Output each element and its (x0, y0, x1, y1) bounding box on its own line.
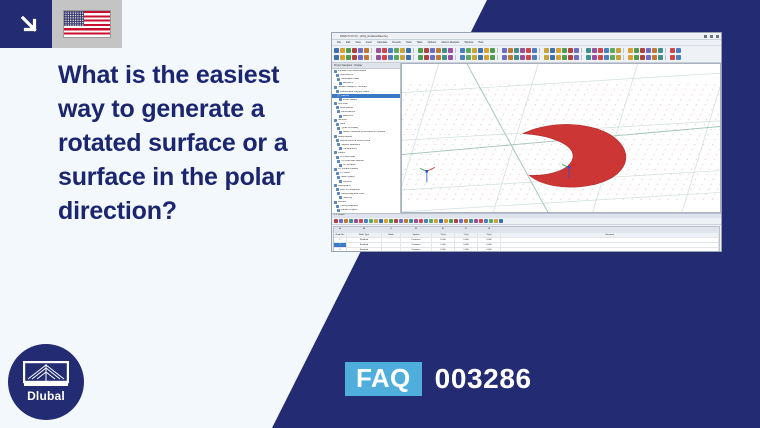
toolbar-row-1[interactable] (334, 47, 719, 54)
tree-node-icon (336, 188, 339, 191)
maximize-icon[interactable] (710, 35, 713, 38)
tree-node-icon (334, 102, 337, 105)
table-column-letter[interactable]: C (382, 227, 401, 232)
tree-node-label: Geometry (343, 82, 353, 84)
arrow-down-right-icon (18, 12, 42, 36)
toolbar-separator (371, 55, 374, 60)
toolbar-button-icon-45[interactable] (604, 55, 609, 60)
toolbar-separator (413, 48, 416, 53)
table-toolbar-icon-31[interactable] (489, 219, 493, 223)
flag-badge (52, 0, 122, 48)
tree-node-label: Values (338, 152, 345, 154)
table-toolbar-icon-24[interactable] (454, 219, 458, 223)
table-cell[interactable]: Standard (347, 248, 382, 251)
toolbar-button-icon-1[interactable] (340, 48, 345, 53)
toolbar-button-icon-16[interactable] (430, 55, 435, 60)
menu-item-calculate[interactable]: Calculate (377, 41, 387, 44)
table-cell[interactable]: 1 (334, 238, 347, 242)
table-cell[interactable]: Cartesian (401, 243, 432, 247)
tree-node-icon (337, 160, 340, 163)
toolbar-button-icon-25[interactable] (484, 48, 489, 53)
table-cell[interactable]: 0.000 (478, 248, 501, 251)
toolbar-button-icon-3[interactable] (352, 48, 357, 53)
toolbar-button-icon-51[interactable] (640, 48, 645, 53)
tree-node-label: Sections (343, 181, 352, 183)
tree-node-label: On Filled Areas (340, 156, 356, 158)
table-toolbar-icon-19[interactable] (429, 219, 433, 223)
table-cell[interactable] (382, 238, 401, 242)
toolbar-button-icon-28[interactable] (502, 55, 507, 60)
toolbar-separator (581, 55, 584, 60)
toolbar-button-icon-29[interactable] (508, 48, 513, 53)
navigator-tree-item[interactable]: Dimensions (332, 212, 400, 213)
table-toolbar-icon-28[interactable] (474, 219, 478, 223)
toolbar-button-icon-36[interactable] (550, 48, 555, 53)
table-toolbar-icon-9[interactable] (379, 219, 383, 223)
arrow-badge (7, 0, 52, 48)
tree-node-icon (339, 115, 342, 118)
logo-text: Dlubal (27, 389, 65, 403)
toolbar-button-icon-46[interactable] (610, 55, 615, 60)
table-toolbar-icon-10[interactable] (384, 219, 388, 223)
table-toolbar-icon-0[interactable] (334, 219, 338, 223)
tree-node-icon (337, 78, 340, 81)
table-cell[interactable] (382, 248, 401, 251)
table-toolbar-icon-15[interactable] (409, 219, 413, 223)
toolbar-button-icon-52[interactable] (646, 48, 651, 53)
table-cell[interactable]: Standard (347, 243, 382, 247)
toolbar-button-icon-0[interactable] (334, 48, 339, 53)
tree-node-icon (336, 123, 339, 126)
table-toolbar-icon-30[interactable] (484, 219, 488, 223)
toolbar-button-icon-1[interactable] (340, 55, 345, 60)
toolbar-separator (497, 55, 500, 60)
toolbar-separator (665, 48, 668, 53)
toolbar-button-icon-39[interactable] (568, 55, 573, 60)
toolbar-button-icon-18[interactable] (442, 55, 447, 60)
table-cell[interactable] (382, 243, 401, 247)
table-column-letter[interactable]: F (455, 227, 478, 232)
tree-node-label: Surface Category / Numbers (338, 86, 367, 88)
canvas-graphics (402, 64, 720, 213)
tree-node-icon (339, 98, 342, 101)
tree-node-icon (339, 147, 342, 150)
toolbar-button-icon-4[interactable] (358, 48, 363, 53)
table-cell[interactable] (501, 248, 719, 251)
left-accent-strip (0, 0, 7, 48)
toolbar-button-icon-12[interactable] (406, 48, 411, 53)
tree-node-label: Grid Lines (338, 103, 348, 105)
toolbar-button-icon-57[interactable] (676, 55, 681, 60)
toolbar-button-icon-17[interactable] (436, 55, 441, 60)
toolbar-button-icon-39[interactable] (568, 48, 573, 53)
toolbar-button-icon-36[interactable] (550, 55, 555, 60)
tree-node-icon (334, 135, 337, 138)
tree-node-icon (336, 156, 339, 159)
table-column-header[interactable]: Node Type (347, 233, 382, 238)
table-cell[interactable]: 0.000 (478, 243, 501, 247)
menu-item-tools[interactable]: Tools (406, 41, 412, 44)
tree-node-label: On Solids (340, 172, 350, 174)
toolbar-button-icon-4[interactable] (358, 55, 363, 60)
toolbar-button-icon-11[interactable] (400, 55, 405, 60)
toolbar-button-icon-49[interactable] (628, 55, 633, 60)
table-toolbar-icon-4[interactable] (354, 219, 358, 223)
dlubal-bridge-icon (23, 361, 69, 387)
toolbar-button-icon-16[interactable] (430, 48, 435, 53)
tree-node-icon (334, 184, 337, 187)
toolbar-button-icon-51[interactable] (640, 55, 645, 60)
toolbar-button-icon-43[interactable] (592, 48, 597, 53)
menu-item-add-on-modules[interactable]: Add-on Modules (441, 41, 459, 44)
table-toolbar-icon-3[interactable] (349, 219, 353, 223)
table-toolbar-icon-17[interactable] (419, 219, 423, 223)
toolbar-button-icon-5[interactable] (364, 55, 369, 60)
data-table[interactable]: ABCDEFGNode No.Node TypeNodeSystemX [m]Y… (333, 226, 720, 251)
tree-node-label: Lines (340, 123, 346, 125)
toolbar-button-icon-47[interactable] (616, 55, 621, 60)
toolbar-button-icon-22[interactable] (466, 55, 471, 60)
toolbar-button-icon-21[interactable] (460, 55, 465, 60)
tree-node-label: Support Reactions (341, 144, 360, 146)
tree-node-label: Transparency (343, 148, 357, 150)
toolbar-separator (581, 48, 584, 53)
toolbar-button-icon-37[interactable] (556, 55, 561, 60)
table-cell[interactable]: 0.000 (478, 238, 501, 242)
faq-number: 003286 (435, 363, 532, 395)
menu-item-options[interactable]: Options (428, 41, 437, 44)
tree-node-icon (337, 192, 340, 195)
tree-node-label: Types of Display (341, 127, 358, 129)
toolbar-button-icon-8[interactable] (382, 55, 387, 60)
toolbar-button-icon-21[interactable] (460, 48, 465, 53)
toolbar-button-icon-30[interactable] (514, 48, 519, 53)
table-toolbar-icon-1[interactable] (339, 219, 343, 223)
table-toolbar-icon-22[interactable] (444, 219, 448, 223)
tree-node-label: Result Beams (338, 136, 352, 138)
toolbar-separator (539, 48, 542, 53)
toolbar-separator (371, 48, 374, 53)
toolbar-button-icon-32[interactable] (526, 48, 531, 53)
toolbar-separator (497, 48, 500, 53)
table-column-letter[interactable]: D (401, 227, 432, 232)
menu-item-results[interactable]: Results (392, 41, 400, 44)
tree-node-icon (336, 139, 339, 142)
toolbar-button-icon-42[interactable] (586, 55, 591, 60)
toolbar-separator (455, 48, 458, 53)
table-toolbar-icon-16[interactable] (414, 219, 418, 223)
toolbar-button-icon-23[interactable] (472, 48, 477, 53)
tree-node-label: Hatching (343, 197, 352, 199)
tree-node-icon (334, 201, 337, 204)
tree-node-label: Imperfections (340, 74, 354, 76)
app-toolbars[interactable] (332, 46, 721, 63)
menu-item-file[interactable]: File (337, 41, 341, 44)
tree-node-icon (334, 151, 337, 154)
tree-node-icon (339, 131, 342, 134)
tree-node-label: Deformations (340, 107, 354, 109)
dlubal-logo: Dlubal (8, 344, 84, 420)
table-column-header[interactable]: Node No. (334, 233, 347, 238)
page-title: What is the easiest way to generate a ro… (58, 58, 318, 228)
project-navigator[interactable]: Project Navigator - Display Imposed Line… (332, 63, 401, 213)
tree-node-icon (337, 176, 340, 179)
toolbar-separator (455, 55, 458, 60)
minimize-icon[interactable] (704, 35, 707, 38)
toolbar-button-icon-35[interactable] (544, 48, 549, 53)
menu-item-view[interactable]: View (355, 41, 360, 44)
toolbar-button-icon-56[interactable] (670, 55, 675, 60)
toolbar-button-icon-14[interactable] (418, 55, 423, 60)
menu-item-insert[interactable]: Insert (366, 41, 372, 44)
app-title: RFEM 5.XX.XX - [FAQ_Rotationsflaeche] (340, 34, 388, 37)
table-column-header[interactable]: X [m] (432, 233, 455, 238)
table-toolbar-icon-26[interactable] (464, 219, 468, 223)
table-column-header[interactable]: Comment (501, 233, 719, 238)
table-cell[interactable]: 0.000 (455, 238, 478, 242)
table-toolbar-icon-25[interactable] (459, 219, 463, 223)
toolbar-button-icon-23[interactable] (472, 55, 477, 60)
table-toolbar-icon-29[interactable] (479, 219, 483, 223)
toolbar-button-icon-8[interactable] (382, 48, 387, 53)
table-toolbar-icon-33[interactable] (499, 219, 503, 223)
tree-node-label: Generated Loads (341, 78, 359, 80)
toolbar-button-icon-24[interactable] (478, 55, 483, 60)
tree-node-label: Mesh Quality (341, 176, 354, 178)
toolbar-button-icon-50[interactable] (634, 48, 639, 53)
toolbar-button-icon-25[interactable] (484, 55, 489, 60)
tree-node-label: Imposed Line Deformations (338, 70, 366, 72)
table-toolbar-icon-7[interactable] (369, 219, 373, 223)
toolbar-button-icon-33[interactable] (532, 55, 537, 60)
table-row[interactable]: 3StandardCartesian0.0001.0000.000 (334, 248, 719, 251)
table-cell[interactable]: 0.000 (432, 238, 455, 242)
table-cell[interactable]: 0.000 (432, 243, 455, 247)
tree-node-icon (336, 106, 339, 109)
toolbar-button-icon-10[interactable] (394, 55, 399, 60)
toolbar-button-icon-19[interactable] (448, 55, 453, 60)
table-column-header[interactable]: Z [m] (478, 233, 501, 238)
toolbar-button-icon-24[interactable] (478, 48, 483, 53)
table-cell[interactable] (501, 238, 719, 242)
table-cell[interactable]: 1.000 (455, 248, 478, 251)
us-flag-icon (63, 10, 111, 38)
toolbar-button-icon-38[interactable] (562, 48, 567, 53)
tree-node-icon (336, 74, 339, 77)
app-body: Project Navigator - Display Imposed Line… (332, 63, 721, 213)
table-toolbar[interactable] (332, 218, 721, 225)
toolbar-button-icon-9[interactable] (388, 55, 393, 60)
toolbar-button-icon-44[interactable] (598, 48, 603, 53)
table-column-header[interactable]: System (401, 233, 432, 238)
tree-node-label: Result Diagrams Filled (341, 193, 364, 195)
toolbar-button-icon-45[interactable] (604, 48, 609, 53)
table-column-letter[interactable]: A (334, 227, 347, 232)
toolbar-button-icon-54[interactable] (658, 55, 663, 60)
app-screenshot: RFEM 5.XX.XX - [FAQ_Rotationsflaeche] Fi… (332, 33, 721, 251)
toolbar-button-icon-2[interactable] (346, 48, 351, 53)
menu-item-window[interactable]: Window (464, 41, 473, 44)
table-cell[interactable] (501, 243, 719, 247)
tree-node-icon (337, 143, 340, 146)
toolbar-button-icon-15[interactable] (424, 55, 429, 60)
toolbar-button-icon-22[interactable] (466, 48, 471, 53)
toolbar-button-icon-37[interactable] (556, 48, 561, 53)
tree-node-label: Render Objects (341, 209, 357, 211)
toolbar-button-icon-57[interactable] (676, 48, 681, 53)
table-cell[interactable]: 0.000 (455, 243, 478, 247)
toolbar-button-icon-28[interactable] (502, 48, 507, 53)
table-toolbar-icon-18[interactable] (424, 219, 428, 223)
tree-node-label: Nodes - Effective Contribution on Surfac… (343, 131, 385, 133)
tree-node-icon (339, 196, 342, 199)
table-toolbar-icon-11[interactable] (389, 219, 393, 223)
toolbar-button-icon-32[interactable] (526, 55, 531, 60)
table-toolbar-icon-27[interactable] (469, 219, 473, 223)
menu-item-edit[interactable]: Edit (346, 41, 350, 44)
close-icon[interactable] (716, 35, 719, 38)
tree-node-label: Differentiated Polygon Loads (340, 91, 369, 93)
tree-node-label: Descriptions (338, 185, 351, 187)
tree-node-label: Selections (343, 115, 354, 117)
toolbar-button-icon-30[interactable] (514, 55, 519, 60)
table-cell[interactable]: Cartesian (401, 238, 432, 242)
toolbar-button-icon-19[interactable] (448, 48, 453, 53)
faq-badge: FAQ 003286 (345, 362, 532, 396)
table-cell[interactable]: 3 (334, 248, 347, 251)
tree-node-label: Results Within a Column Area (340, 140, 371, 142)
toolbar-button-icon-43[interactable] (592, 55, 597, 60)
tree-node-icon (334, 86, 337, 89)
menu-item-help[interactable]: Help (478, 41, 483, 44)
toolbar-button-icon-14[interactable] (418, 48, 423, 53)
table-cell[interactable]: Cartesian (401, 248, 432, 251)
tree-node-icon (337, 94, 340, 97)
toolbar-separator (665, 55, 668, 60)
toolbar-button-icon-26[interactable] (490, 48, 495, 53)
menu-item-table[interactable]: Table (417, 41, 423, 44)
toolbar-button-icon-5[interactable] (364, 48, 369, 53)
toolbar-button-icon-31[interactable] (520, 48, 525, 53)
table-cell[interactable]: 2 (334, 243, 347, 247)
tree-node-label: Zoom in Foreground (340, 189, 361, 191)
tree-node-label: Isolines (338, 201, 346, 203)
toolbar-button-icon-40[interactable] (574, 55, 579, 60)
toolbar-button-icon-56[interactable] (670, 48, 675, 53)
table-cell[interactable]: 0.000 (432, 248, 455, 251)
app-titlebar: RFEM 5.XX.XX - [FAQ_Rotationsflaeche] (332, 33, 721, 40)
tree-node-icon (337, 127, 340, 130)
flag-stars (64, 11, 84, 26)
toolbar-button-icon-52[interactable] (646, 55, 651, 60)
table-column-letter[interactable] (501, 227, 719, 232)
table-pane[interactable]: 1.1 Nodes ABCDEFGNode No.Node TypeNodeSy… (332, 213, 721, 251)
toolbar-button-icon-50[interactable] (634, 55, 639, 60)
tree-node-icon (336, 172, 339, 175)
tree-node-icon (336, 90, 339, 93)
toolbar-button-icon-46[interactable] (610, 48, 615, 53)
table-toolbar-icon-13[interactable] (399, 219, 403, 223)
table-toolbar-icon-14[interactable] (404, 219, 408, 223)
toolbar-button-icon-40[interactable] (574, 48, 579, 53)
toolbar-button-icon-35[interactable] (544, 55, 549, 60)
table-toolbar-icon-6[interactable] (364, 219, 368, 223)
table-toolbar-icon-23[interactable] (449, 219, 453, 223)
table-toolbar-icon-8[interactable] (374, 219, 378, 223)
toolbar-button-icon-7[interactable] (376, 55, 381, 60)
toolbar-button-icon-3[interactable] (352, 55, 357, 60)
tree-node-icon (334, 70, 337, 73)
toolbar-button-icon-0[interactable] (334, 55, 339, 60)
tree-node-label: Printing Diagrams (340, 205, 358, 207)
tree-node-label: Deformations (341, 111, 355, 113)
table-cell[interactable]: Standard (347, 238, 382, 242)
tree-node-label: On Filled Max Results (341, 160, 363, 162)
tree-node-icon (337, 209, 340, 212)
toolbar-button-icon-54[interactable] (658, 48, 663, 53)
toolbar-separator (623, 48, 626, 53)
toolbar-button-icon-26[interactable] (490, 55, 495, 60)
toolbar-button-icon-44[interactable] (598, 55, 603, 60)
toolbar-button-icon-42[interactable] (586, 48, 591, 53)
toolbar-button-icon-17[interactable] (436, 48, 441, 53)
toolbar-button-icon-33[interactable] (532, 48, 537, 53)
tree-node-label: Result Values (343, 99, 357, 101)
toolbar-button-icon-12[interactable] (406, 55, 411, 60)
table-column-header[interactable]: Y [m] (455, 233, 478, 238)
toolbar-button-icon-53[interactable] (652, 48, 657, 53)
tree-node-icon (337, 110, 340, 113)
toolbar-separator (413, 55, 416, 60)
tree-node-icon (334, 119, 337, 122)
toolbar-button-icon-9[interactable] (388, 48, 393, 53)
toolbar-button-icon-53[interactable] (652, 55, 657, 60)
tree-node-label: On Surfaces (343, 164, 356, 166)
table-column-letter[interactable]: B (347, 227, 382, 232)
table-toolbar-icon-20[interactable] (434, 219, 438, 223)
toolbar-button-icon-10[interactable] (394, 48, 399, 53)
tree-node-icon (339, 164, 342, 167)
window-controls[interactable] (704, 35, 719, 38)
table-toolbar-icon-5[interactable] (359, 219, 363, 223)
table-column-letter[interactable]: E (432, 227, 455, 232)
toolbar-button-icon-38[interactable] (562, 55, 567, 60)
tree-node-icon (339, 82, 342, 85)
toolbar-button-icon-31[interactable] (520, 55, 525, 60)
navigator-tree-list[interactable]: Imposed Line DeformationsImperfectionsGe… (332, 69, 400, 213)
table-toolbar-icon-21[interactable] (439, 219, 443, 223)
table-column-header[interactable]: Node (382, 233, 401, 238)
table-toolbar-icon-32[interactable] (494, 219, 498, 223)
toolbar-button-icon-11[interactable] (400, 48, 405, 53)
tree-node-label: Results (341, 95, 349, 97)
table-toolbar-icon-2[interactable] (344, 219, 348, 223)
toolbar-button-icon-7[interactable] (376, 48, 381, 53)
faq-tag-label: FAQ (345, 362, 422, 396)
table-column-letter[interactable]: G (478, 227, 501, 232)
toolbar-button-icon-2[interactable] (346, 55, 351, 60)
model-canvas[interactable] (401, 63, 721, 213)
tree-node-label: Sections (338, 119, 347, 121)
toolbar-button-icon-18[interactable] (442, 48, 447, 53)
toolbar-button-icon-47[interactable] (616, 48, 621, 53)
toolbar-button-icon-29[interactable] (508, 55, 513, 60)
toolbar-row-2[interactable] (334, 54, 719, 61)
tree-node-icon (336, 205, 339, 208)
toolbar-button-icon-49[interactable] (628, 48, 633, 53)
toolbar-button-icon-15[interactable] (424, 48, 429, 53)
table-toolbar-icon-12[interactable] (394, 219, 398, 223)
